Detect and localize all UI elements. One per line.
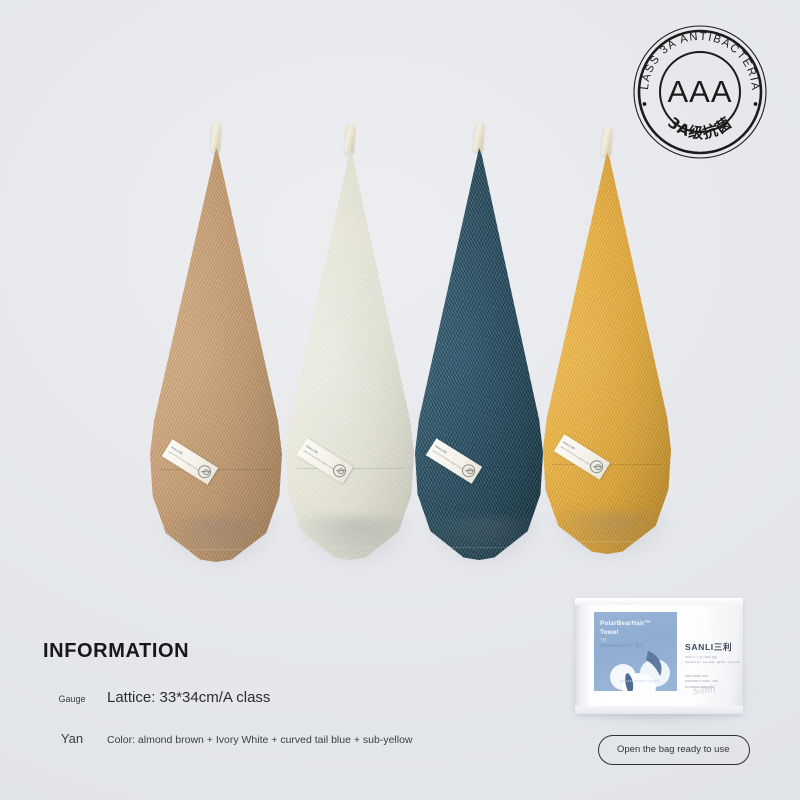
package-label-subtitle-brand: PolarBearHair™ 毛巾 [600, 643, 644, 649]
package-brand-meta: 33*34 cm / A 类 / 100% 全棉 almond brown · … [685, 655, 740, 666]
package-label-panel: PolarBearHair™ Towel 三利 PolarBearHair™ 毛… [594, 612, 677, 691]
spec-value: Lattice: 33*34cm/A class [107, 689, 270, 706]
spec-row-gauge: Gauge Lattice: 33*34cm/A class [43, 689, 413, 706]
package-spine [575, 598, 588, 714]
package-label-footer: POLARBEARHAIR™ 毛巾系列 [620, 679, 660, 683]
care-symbol-icon [198, 465, 211, 478]
towel-hem [543, 152, 671, 554]
information-heading: INFORMATION [43, 640, 413, 663]
package-bottom-edge [575, 706, 743, 714]
package-brand-name: SANLI三利 [685, 641, 732, 653]
package-signature: Sanli [693, 685, 717, 697]
towel-shape: SANLI三利 100% COTTON 33*34cm MADE IN CHIN… [286, 150, 414, 560]
open-bag-callout-label: Open the bag ready to use [599, 744, 730, 757]
towel-hem [415, 148, 543, 560]
towel-shape: SANLI三利 100% COTTON 33*34cm MADE IN CHIN… [543, 152, 671, 554]
towel-drop-shadow [291, 518, 416, 571]
polar-bear-illustration [608, 643, 674, 691]
care-symbol-icon [333, 464, 346, 477]
spec-list: Gauge Lattice: 33*34cm/A class Yan Color… [43, 689, 413, 747]
curved-tail-blue-towel: SANLI三利 100% COTTON 33*34cm MADE IN CHIN… [415, 122, 543, 562]
care-symbol-icon [590, 460, 603, 473]
spec-key: Gauge [43, 694, 101, 704]
spec-value: Color: almond brown + Ivory White + curv… [107, 734, 413, 746]
towel-drop-shadow [420, 518, 545, 571]
package-box: PolarBearHair™ Towel 三利 PolarBearHair™ 毛… [575, 598, 743, 714]
almond-brown-towel: SANLI三利 100% COTTON 33*34cm MADE IN CHIN… [150, 122, 282, 562]
towel-hem [286, 150, 414, 560]
open-bag-callout: Open the bag ready to use [598, 735, 750, 765]
product-photo-canvas: CLASS 3A ANTIBACTERIAL 3A级抗菌 AAA SANLI三利… [0, 0, 800, 800]
product-package: PolarBearHair™ Towel 三利 PolarBearHair™ 毛… [575, 598, 743, 714]
towel-drop-shadow [548, 513, 673, 565]
package-top-edge [575, 598, 743, 605]
package-label-title: PolarBearHair™ Towel [600, 620, 651, 637]
care-symbol-icon [462, 464, 475, 477]
spec-row-color: Yan Color: almond brown + Ivory White + … [43, 732, 413, 747]
package-label-subtitle-cn: 三利 [600, 637, 606, 642]
ivory-white-towel: SANLI三利 100% COTTON 33*34cm MADE IN CHIN… [286, 124, 414, 562]
information-section: INFORMATION Gauge Lattice: 33*34cm/A cla… [43, 640, 413, 747]
spec-key: Yan [43, 732, 101, 747]
towel-shape: SANLI三利 100% COTTON 33*34cm MADE IN CHIN… [150, 148, 282, 562]
towel-drop-shadow [155, 518, 284, 571]
towel-shape: SANLI三利 100% COTTON 33*34cm MADE IN CHIN… [415, 148, 543, 560]
sub-yellow-towel: SANLI三利 100% COTTON 33*34cm MADE IN CHIN… [543, 126, 671, 556]
towel-hem [150, 148, 282, 562]
